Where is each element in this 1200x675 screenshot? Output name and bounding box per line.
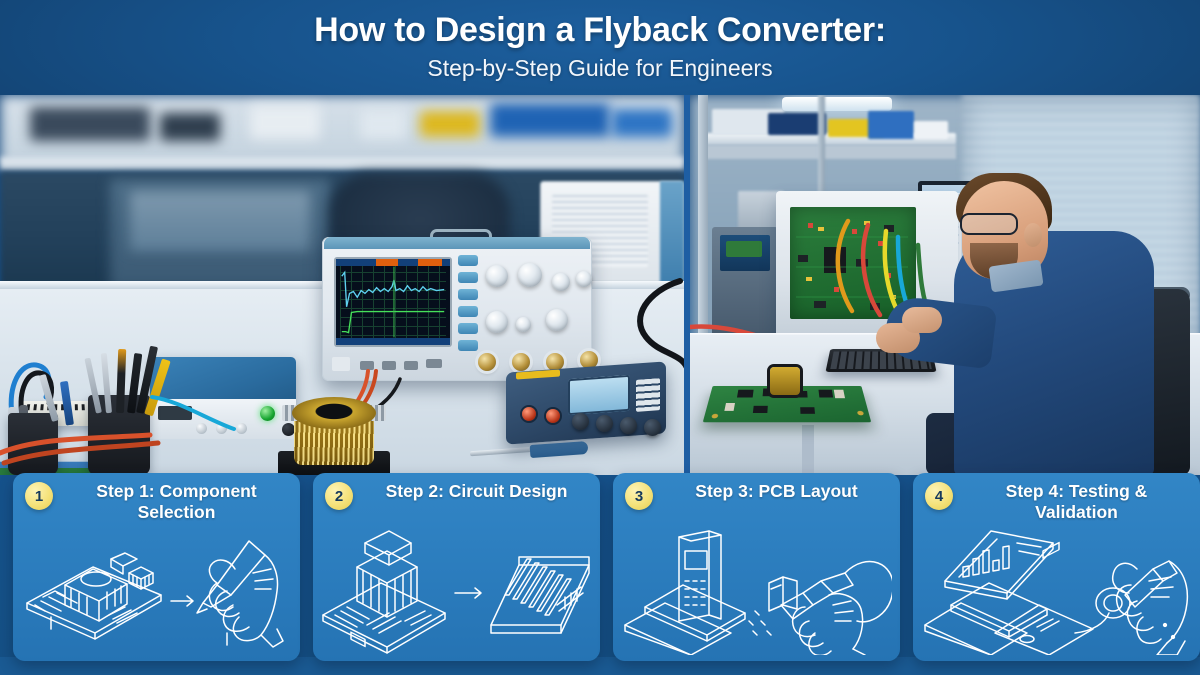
background-equipment-4 [360,109,406,139]
oscilloscope-knob-scale [516,317,531,332]
multimeter-rotary-knob [572,413,589,430]
multimeter-input-jack [546,409,560,423]
oscilloscope-waveform [336,259,450,345]
background-yellow-bin [420,111,480,137]
step-badge-3: 3 [625,482,653,510]
electronics-lab-bench-photo [0,95,684,475]
shelf-support-bar [706,145,956,159]
oscilloscope-top-bezel [324,237,590,249]
oscilloscope-knob-vertical [486,265,508,287]
oscilloscope-softkey [458,289,478,300]
pcb-panel-and-soldering-hand-line-art [621,529,892,655]
transformer-toroid-top [292,397,376,429]
oscilloscope-softkey [458,272,478,283]
photo-stage [0,95,1200,475]
background-equipment-1 [30,107,150,141]
photo-divider [684,95,690,475]
shelf-bin-blue [868,111,914,139]
step-badge-2: 2 [325,482,353,510]
step-badge-4: 4 [925,482,953,510]
multimeter-input-jack [522,407,536,421]
oscilloscope-softkey [458,340,478,351]
bench-pcb-transformer [770,367,800,395]
step-title-2: Step 2: Circuit Design [363,481,590,502]
back-cabinet-panel [130,191,310,251]
toroidal-transformer [288,395,380,465]
back-bench-top [0,157,684,171]
background-blue-bin-2 [612,109,672,137]
step-card-4[interactable]: 4 Step 4: Testing & Validation [913,473,1200,661]
oscilloscope-screen-frame [334,257,452,347]
step-title-1: Step 1: Component Selection [63,481,290,523]
oscilloscope-knob-horizontal [518,263,542,287]
step-card-3[interactable]: 3 Step 3: PCB Layout [613,473,900,661]
infographic-canvas: How to Design a Flyback Converter: Step-… [0,0,1200,675]
steps-row: 1 Step 1: Component Selection [0,473,1200,675]
oscilloscope-knob-position [486,311,508,333]
engineer-glasses [960,213,1018,235]
step-title-3: Step 3: PCB Layout [663,481,890,502]
page-subtitle: Step-by-Step Guide for Engineers [427,55,772,82]
background-blue-bin [490,103,610,137]
step-title-4: Step 4: Testing & Validation [963,481,1190,523]
transformer-board-to-schematic-stack-line-art [321,529,592,655]
oscilloscope-softkey [458,306,478,317]
coiled-black-cable [560,275,684,395]
oscilloscope-bottom-status-bar [336,338,450,345]
page-title: How to Design a Flyback Converter: [314,13,886,49]
oscilloscope-softkey [458,323,478,334]
multimeter-rotary-knob [596,415,613,432]
background-equipment-2 [160,113,220,141]
bench-leg [802,425,814,475]
oscilloscope-softkey [458,255,478,266]
rack-instrument-display [726,241,762,257]
power-supply-blue-stripe [660,181,684,283]
step-card-2[interactable]: 2 Step 2: Circuit Design [313,473,600,661]
header-banner: How to Design a Flyback Converter: Step-… [0,0,1200,95]
pcb-and-hand-with-stylus-line-art [21,529,292,655]
engineer-at-test-station-photo [690,95,1200,475]
step-card-1[interactable]: 1 Step 1: Component Selection [13,473,300,661]
shelf-box-white-2 [914,121,948,139]
oscilloscope-screen [336,259,450,345]
multimeter-rotary-knob [644,419,661,436]
monitor-chart-and-probe-hand-line-art [921,529,1192,655]
background-equipment-3 [250,105,320,139]
oscilloscope-side-buttons [458,255,478,351]
engineer-ear [1024,223,1042,247]
ceiling-light [782,97,892,111]
engineer-hand-holding-probe [902,307,942,333]
multimeter-rotary-knob [620,417,637,434]
step-badge-1: 1 [25,482,53,510]
